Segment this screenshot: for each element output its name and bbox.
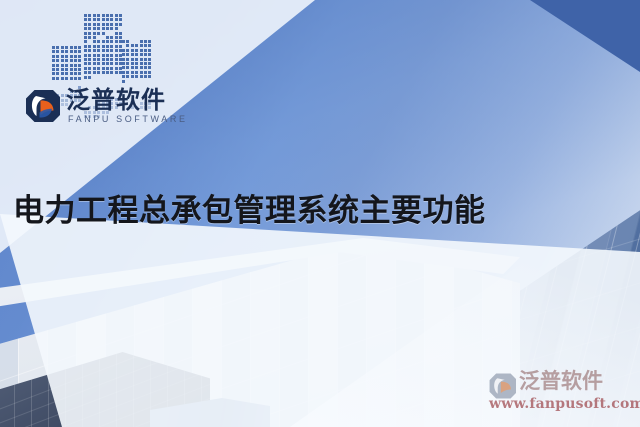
watermark-url: www.fanpusoft.com [489, 396, 640, 412]
brand-logo-name-en: FANPU SOFTWARE [68, 114, 188, 124]
page-title: 电力工程总承包管理系统主要功能 [13, 185, 486, 230]
watermark-name-cn: 泛普软件 [519, 368, 603, 394]
fanpu-hexagon-swoosh-icon [24, 88, 60, 124]
brand-logo-name-cn: 泛普软件 [66, 86, 166, 114]
site-watermark: 泛普软件 www.fanpusoft.com [487, 370, 635, 420]
pixel-city-skyline-icon [32, 6, 152, 92]
promotional-banner: 泛普软件 FANPU SOFTWARE 电力工程总承包管理系统主要功能 泛普软件… [0, 0, 640, 427]
brand-logo: 泛普软件 FANPU SOFTWARE [24, 86, 174, 132]
